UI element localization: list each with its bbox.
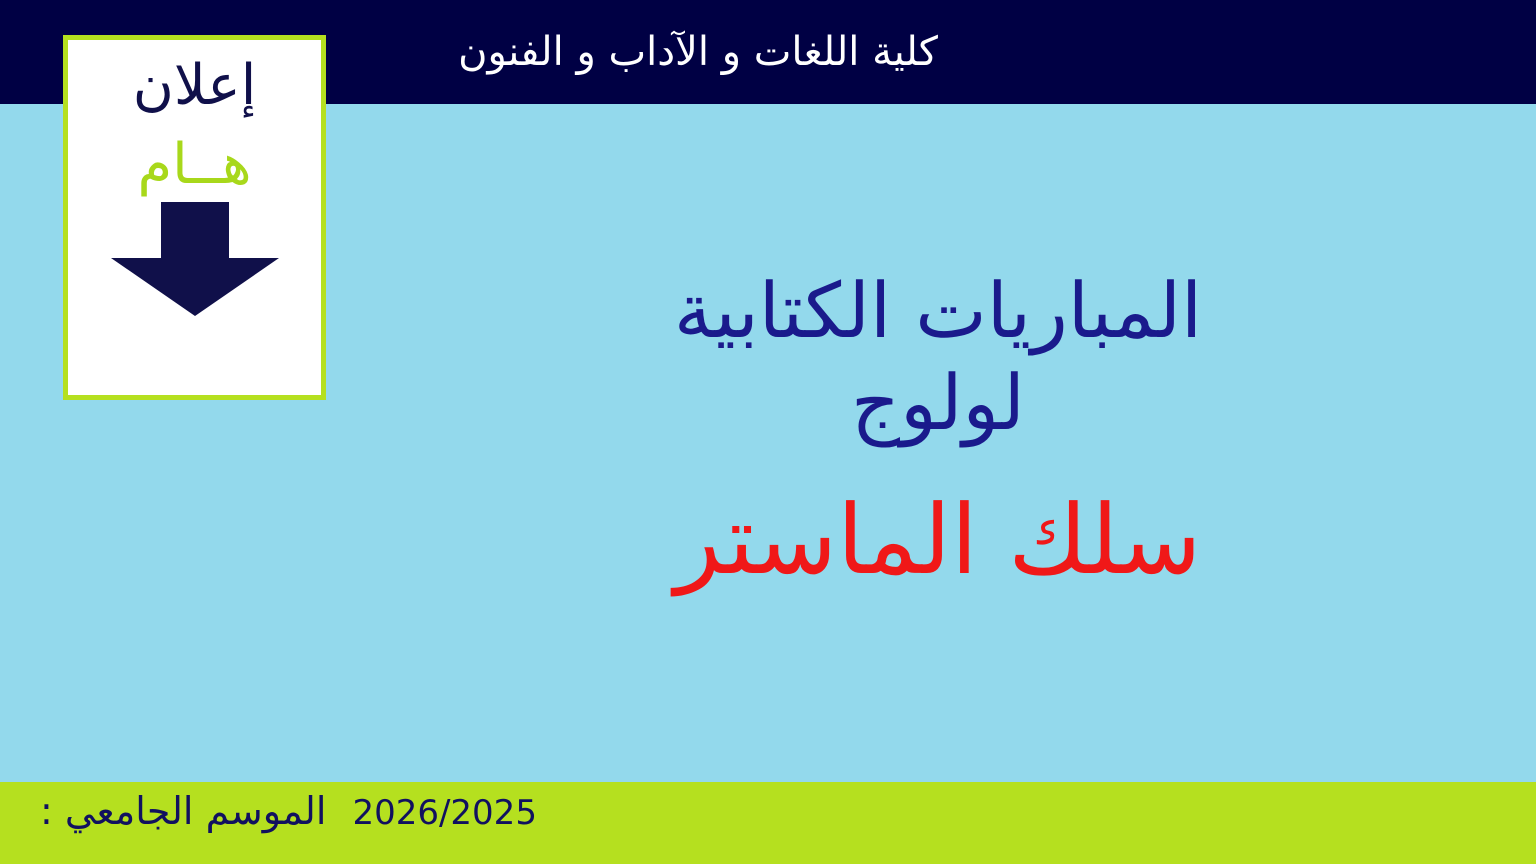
- important-label: هــام: [137, 130, 251, 200]
- academic-year-value: 2026/2025: [352, 796, 537, 832]
- program-name-emphasis: سلك الماستر: [675, 484, 1202, 597]
- academic-year-label: الموسم الجامعي :: [40, 792, 326, 832]
- arrow-down-icon: [107, 202, 283, 318]
- announcement-slide: كلية اللغات و الآداب و الفنون إعلان هــا…: [0, 0, 1536, 864]
- headline-line-2: لولوج: [851, 357, 1025, 450]
- academic-year-footer: الموسم الجامعي : 2026/2025: [40, 792, 537, 832]
- headline-line-1: المباريات الكتابية: [674, 265, 1202, 358]
- main-headline-block: المباريات الكتابية لولوج سلك الماستر: [340, 104, 1536, 782]
- announcement-label: إعلان: [133, 48, 257, 124]
- important-announcement-card: إعلان هــام: [63, 35, 326, 400]
